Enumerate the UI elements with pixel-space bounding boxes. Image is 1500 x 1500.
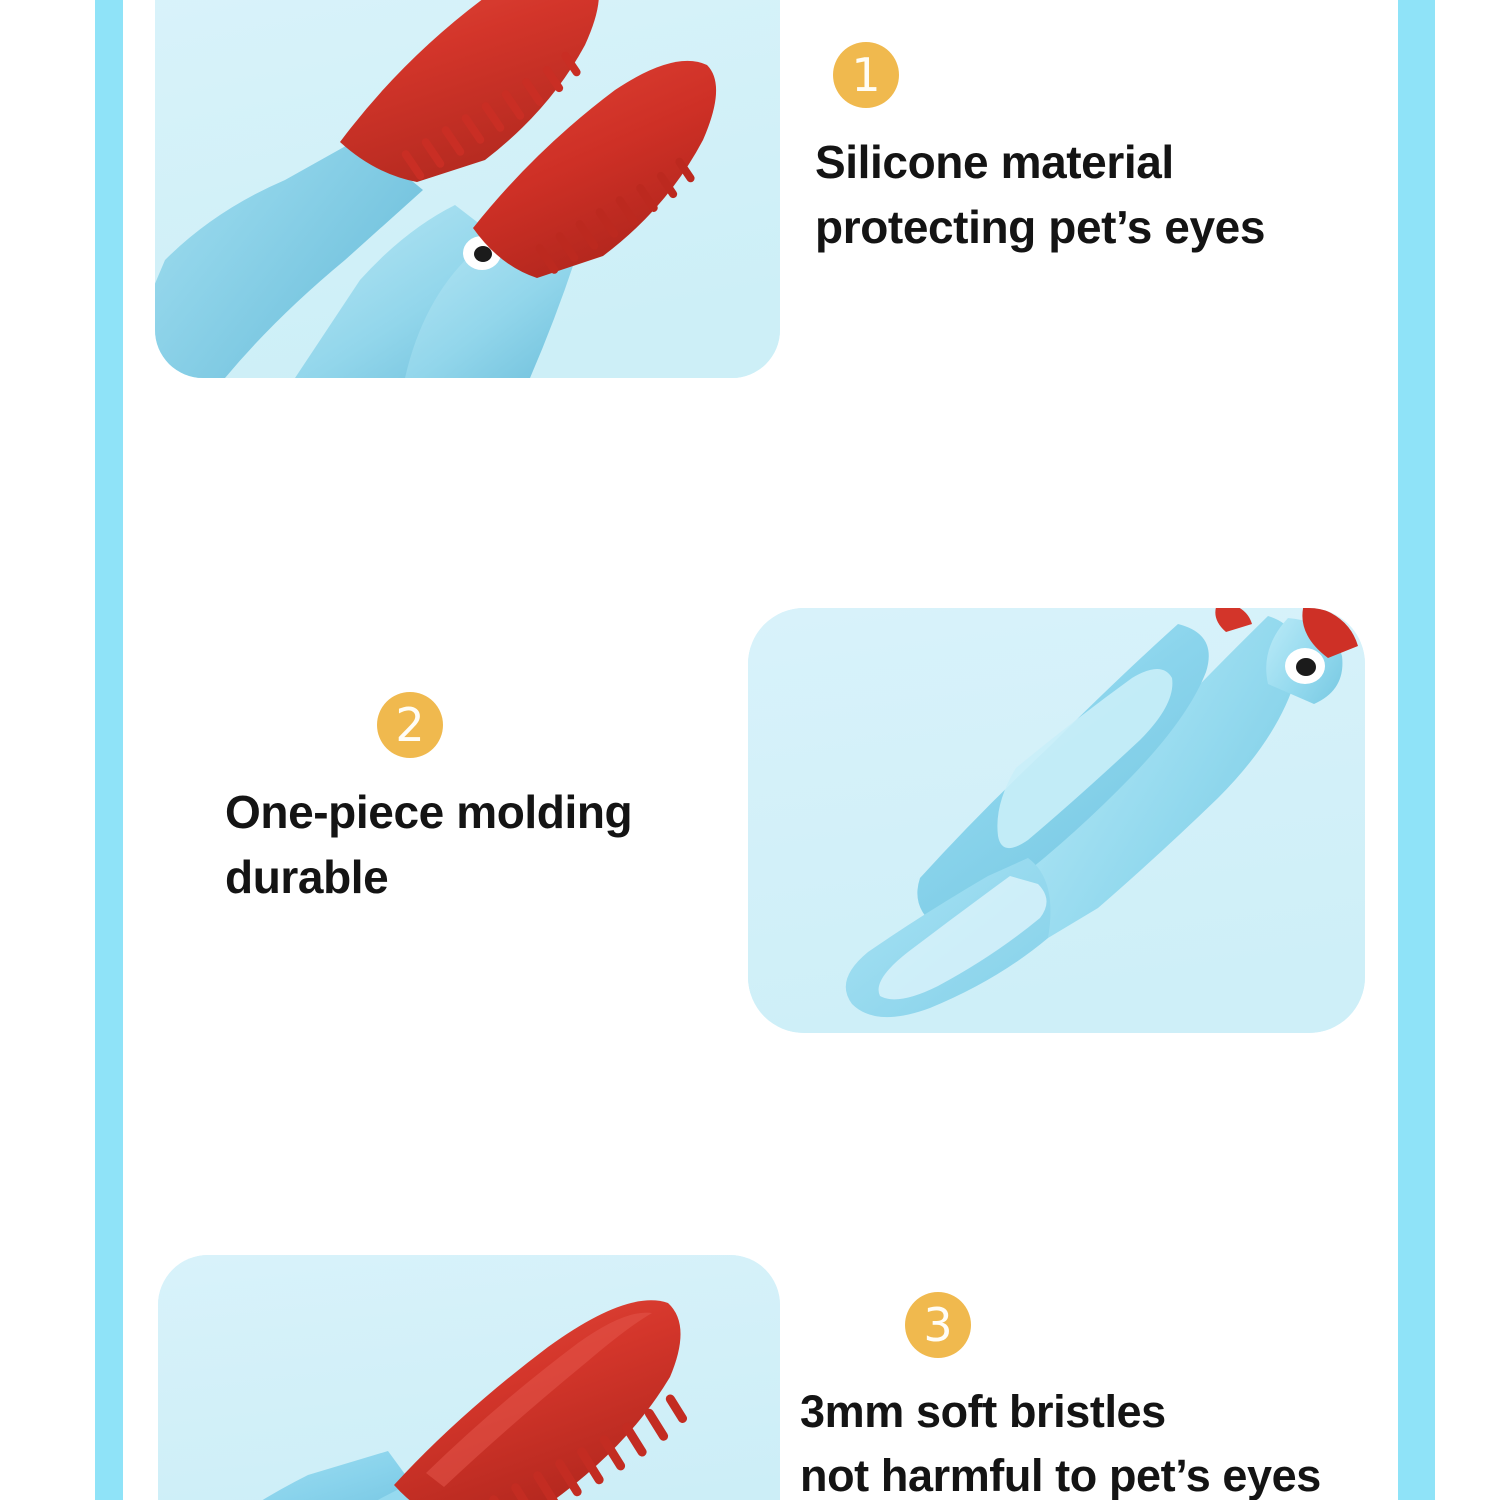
feature-1-block: 1 Silicone material protecting pet’s eye… <box>815 42 1375 261</box>
feature-3-number-badge: 3 <box>905 1292 971 1358</box>
left-accent-border <box>95 0 123 1500</box>
feature-3-photo-panel <box>158 1255 780 1500</box>
feature-1-number-badge: 1 <box>833 42 899 108</box>
soft-bristles-photo <box>158 1255 780 1500</box>
feature-2-number-badge: 2 <box>377 692 443 758</box>
one-piece-body-photo <box>748 608 1365 1033</box>
infographic-page: 1 Silicone material protecting pet’s eye… <box>0 0 1500 1500</box>
feature-1-photo-panel <box>155 0 780 378</box>
feature-3-text: 3mm soft bristles not harmful to pet’s e… <box>800 1380 1420 1500</box>
right-accent-border <box>1398 0 1435 1500</box>
feature-2-text: One-piece molding durable <box>225 780 745 911</box>
feature-2-photo-panel <box>748 608 1365 1033</box>
bird-eye-decoration <box>1285 648 1325 684</box>
feature-1-text: Silicone material protecting pet’s eyes <box>815 130 1375 261</box>
feature-2-block: 2 One-piece molding durable <box>225 692 745 911</box>
comb-heads-closeup-photo <box>155 0 780 378</box>
feature-3-block: 3 3mm soft bristles not harmful to pet’s… <box>800 1292 1420 1500</box>
